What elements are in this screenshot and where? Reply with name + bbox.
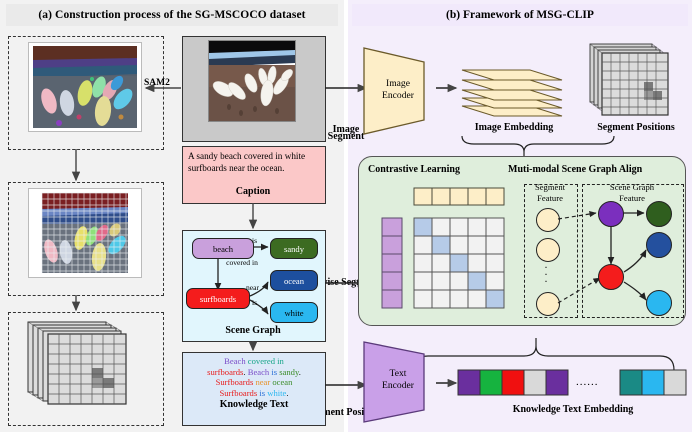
knowledge-embedding-label: Knowledge Text Embedding	[460, 404, 686, 415]
knowledge-embedding-cells-head	[458, 370, 568, 396]
knowledge-embedding-ellipsis: ......	[576, 376, 599, 388]
knowledge-embedding-cells-tail	[620, 370, 688, 396]
panel-b-arrows	[0, 0, 692, 432]
